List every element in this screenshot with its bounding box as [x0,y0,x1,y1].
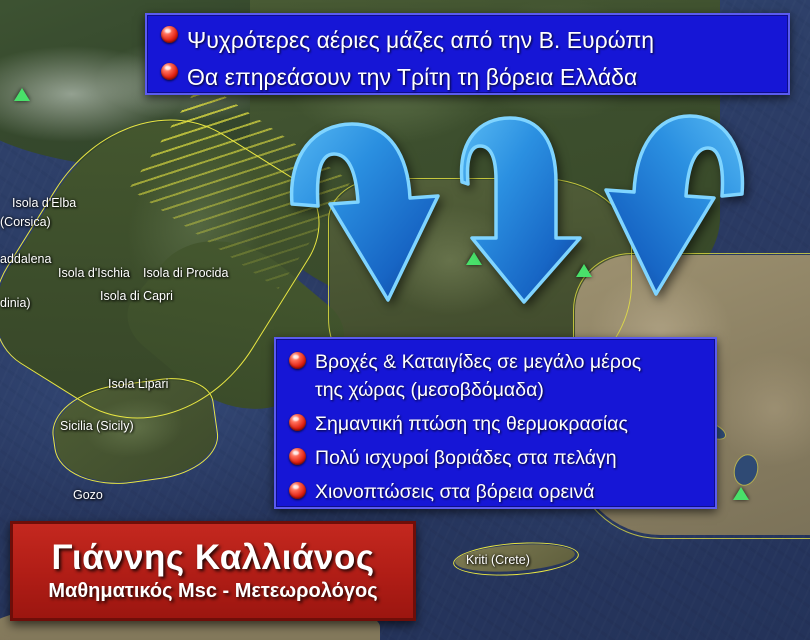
red-sphere-bullet-icon [289,352,306,369]
map-label: Isola d'Elba [12,196,76,210]
forecast-text-line1: Σημαντική πτώση της θερμοκρασίας [315,410,628,438]
map-marker-icon-alps[interactable] [14,88,30,101]
headline-list: Ψυχρότερες αέριες μάζες από την Β. Ευρώπ… [161,22,774,96]
presenter-name: Γιάννης Καλλιάνος [51,538,374,578]
forecast-list: Βροχές & Καταιγίδες σε μεγάλο μέρος της … [289,348,701,506]
map-label: Isola d'Ischia [58,266,130,280]
presenter-credit-banner: Γιάννης Καλλιάνος Μαθηματικός Msc - Μετε… [10,521,416,621]
forecast-details-panel: Βροχές & Καταιγίδες σε μεγάλο μέρος της … [274,337,717,509]
map-label: (Corsica) [0,215,51,229]
red-sphere-bullet-icon [289,448,306,465]
headline-text: Ψυχρότερες αέριες μάζες από την Β. Ευρώπ… [187,22,654,59]
red-sphere-bullet-icon [161,63,178,80]
headline-text: Θα επηρεάσουν την Τρίτη τη βόρεια Ελλάδα [187,59,637,96]
forecast-item: Πολύ ισχυροί βοριάδες στα πελάγη [289,444,701,472]
map-label: Isola di Capri [100,289,173,303]
map-label: Sicilia (Sicily) [60,419,134,433]
forecast-text-line2: της χώρας (μεσοβδόμαδα) [315,376,641,404]
red-sphere-bullet-icon [289,414,306,431]
forecast-text-line1: Πολύ ισχυροί βοριάδες στα πελάγη [315,444,617,472]
red-sphere-bullet-icon [161,26,178,43]
headline-item: Θα επηρεάσουν την Τρίτη τη βόρεια Ελλάδα [161,59,774,96]
cold-air-arrow-east [592,106,767,306]
map-label: addalena [0,252,51,266]
forecast-text-wrap: Βροχές & Καταιγίδες σε μεγάλο μέρος της … [315,348,641,404]
forecast-item: Βροχές & Καταιγίδες σε μεγάλο μέρος της … [289,348,701,404]
map-label: Isola Lipari [108,377,168,391]
map-label: Gozo [73,488,103,502]
map-label: Isola di Procida [143,266,228,280]
red-sphere-bullet-icon [289,482,306,499]
headline-panel: Ψυχρότερες αέριες μάζες από την Β. Ευρώπ… [145,13,790,95]
weather-graphic: Isola d'Elba (Corsica) addalena dinia) I… [0,0,810,640]
headline-item: Ψυχρότερες αέριες μάζες από την Β. Ευρώπ… [161,22,774,59]
cold-air-arrow-center [452,110,592,310]
map-label: Kriti (Crete) [466,553,530,567]
presenter-role: Μαθηματικός Msc - Μετεωρολόγος [48,578,377,604]
forecast-item: Χιονοπτώσεις στα βόρεια ορεινά [289,478,701,506]
forecast-text-line1: Βροχές & Καταιγίδες σε μεγάλο μέρος [315,348,641,376]
map-marker-icon-turkey[interactable] [733,487,749,500]
map-label: dinia) [0,296,31,310]
forecast-text-line1: Χιονοπτώσεις στα βόρεια ορεινά [315,478,595,506]
forecast-item: Σημαντική πτώση της θερμοκρασίας [289,410,701,438]
